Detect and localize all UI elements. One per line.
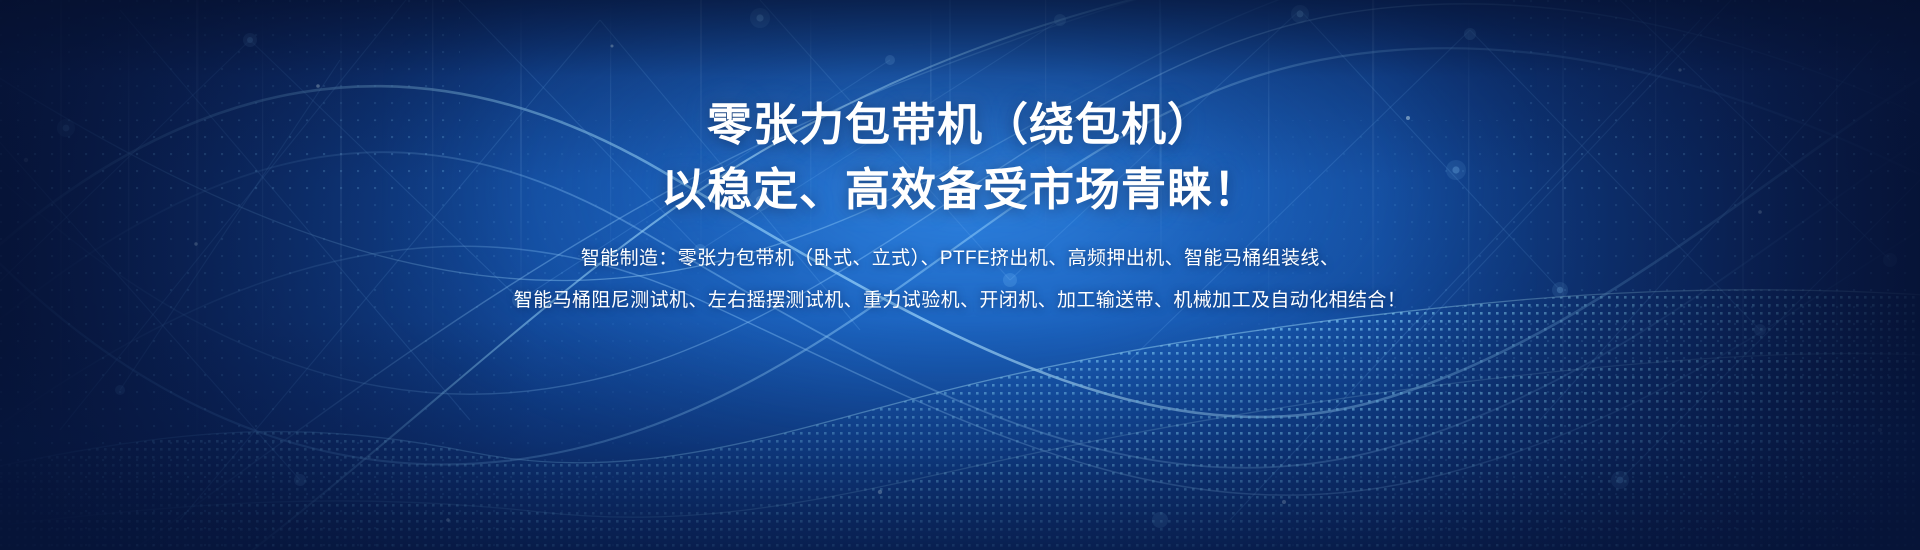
banner-content: 零张力包带机（绕包机） 以稳定、高效备受市场青睐！ 智能制造：零张力包带机（卧式…: [0, 0, 1920, 550]
subcopy-line-1: 智能制造：零张力包带机（卧式、立式）、PTFE挤出机、高频押出机、智能马桶组装线…: [514, 244, 1406, 275]
hero-banner: 零张力包带机（绕包机） 以稳定、高效备受市场青睐！ 智能制造：零张力包带机（卧式…: [0, 0, 1920, 550]
headline-line-2: 以稳定、高效备受市场青睐！: [661, 161, 1259, 219]
headline-line-1: 零张力包带机（绕包机）: [707, 96, 1213, 154]
subcopy-block: 智能制造：零张力包带机（卧式、立式）、PTFE挤出机、高频押出机、智能马桶组装线…: [514, 244, 1406, 317]
subcopy-line-2: 智能马桶阻尼测试机、左右摇摆测试机、重力试验机、开闭机、加工输送带、机械加工及自…: [514, 286, 1406, 317]
